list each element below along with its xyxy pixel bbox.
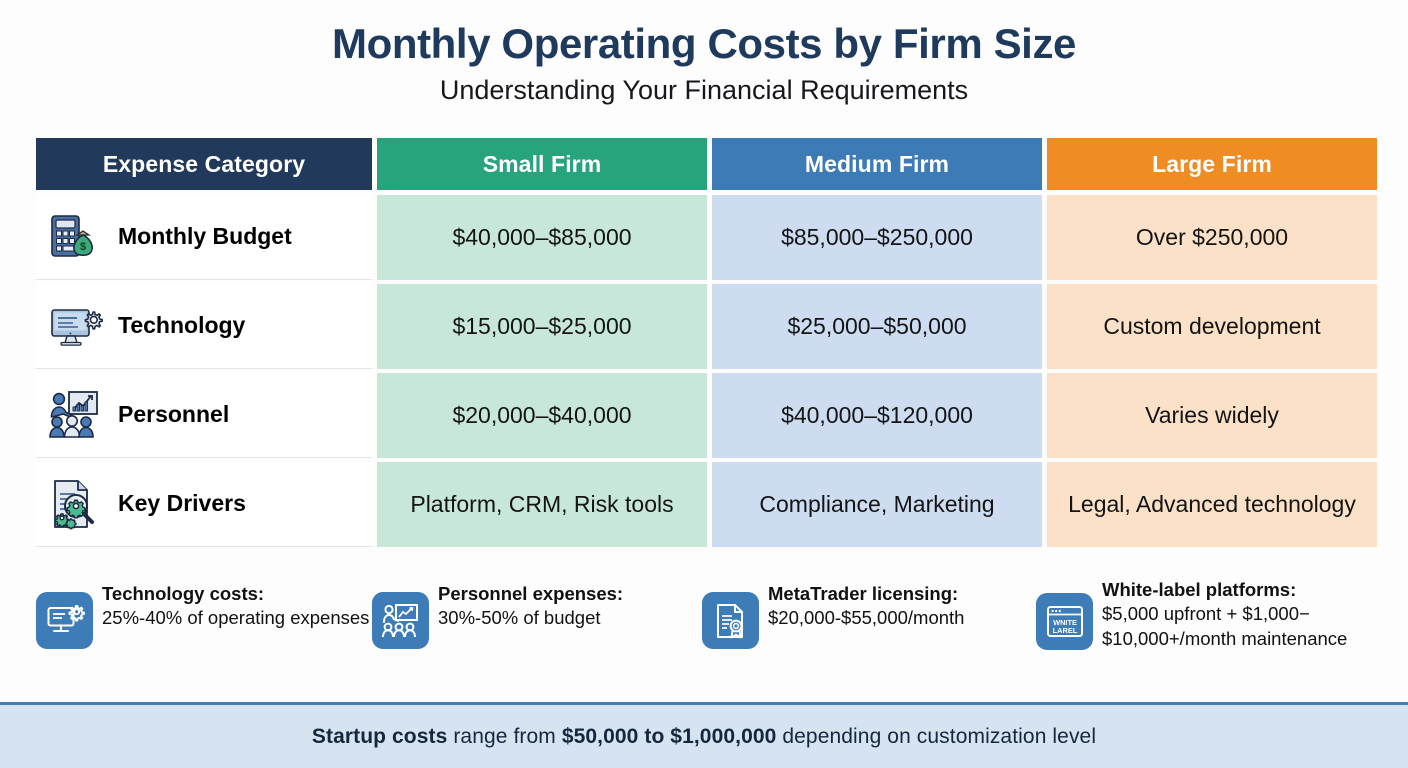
callout-title: Personnel expenses: — [438, 582, 623, 606]
column-header-small-firm: Small Firm — [377, 138, 707, 190]
certificate-document-icon — [702, 592, 759, 649]
callout-detail: $5,000 upfront + $1,000−$10,000+/month m… — [1102, 603, 1347, 648]
footer-amount: $50,000 to $1,000,000 — [562, 725, 777, 748]
callout-detail: 30%‑50% of budget — [438, 607, 601, 628]
row-category-cell: Personnel — [36, 373, 372, 458]
cell-large-firm: Legal, Advanced technology — [1047, 462, 1377, 547]
footer-banner: Startup costs range from $50,000 to $1,0… — [0, 702, 1408, 768]
callout-text: Technology costs: 25%‑40% of operating e… — [102, 578, 369, 631]
footer-prefix: Startup costs — [312, 725, 448, 748]
callout-title: MetaTrader licensing: — [768, 582, 964, 606]
presentation-people-icon — [44, 384, 106, 446]
callout-title: Technology costs: — [102, 582, 369, 606]
table-row: Key Drivers Platform, CRM, Risk tools Co… — [36, 462, 1368, 547]
cell-small-firm: Platform, CRM, Risk tools — [377, 462, 707, 547]
cell-medium-firm: Compliance, Marketing — [712, 462, 1042, 547]
cell-medium-firm: $40,000–$120,000 — [712, 373, 1042, 458]
row-category-cell: $ Monthly Budget — [36, 195, 372, 280]
monitor-gear-icon — [36, 592, 93, 649]
footer-text: Startup costs range from $50,000 to $1,0… — [312, 725, 1096, 749]
callout-text: White-label platforms: $5,000 upfront + … — [1102, 578, 1376, 651]
row-category-label: Technology — [118, 313, 245, 338]
calculator-money-bag-icon: $ — [44, 206, 106, 268]
callout-detail: 25%‑40% of operating expenses — [102, 607, 369, 628]
document-magnifier-gears-icon — [44, 473, 106, 535]
cell-small-firm: $40,000–$85,000 — [377, 195, 707, 280]
page-title: Monthly Operating Costs by Firm Size — [0, 20, 1408, 67]
row-category-label: Personnel — [118, 402, 229, 427]
cell-large-firm: Custom development — [1047, 284, 1377, 369]
cost-comparison-table: Expense Category Small Firm Medium Firm … — [36, 138, 1368, 551]
cell-large-firm: Over $250,000 — [1047, 195, 1377, 280]
callout-title: White-label platforms: — [1102, 578, 1376, 602]
table-header-row: Expense Category Small Firm Medium Firm … — [36, 138, 1368, 190]
footer-suffix: depending on customization level — [776, 725, 1096, 748]
table-row: Personnel $20,000–$40,000 $40,000–$120,0… — [36, 373, 1368, 458]
column-header-medium-firm: Medium Firm — [712, 138, 1042, 190]
row-category-cell: Technology — [36, 284, 372, 369]
callout-white-label-platforms: WNITE LAREL White-label platforms: $5,00… — [1036, 578, 1376, 651]
callout-text: Personnel expenses: 30%‑50% of budget — [438, 578, 623, 631]
row-category-label: Monthly Budget — [118, 224, 292, 249]
presentation-people-icon — [372, 592, 429, 649]
callout-technology-costs: Technology costs: 25%‑40% of operating e… — [36, 578, 372, 651]
cell-small-firm: $20,000–$40,000 — [377, 373, 707, 458]
column-header-expense-category: Expense Category — [36, 138, 372, 190]
page-subtitle: Understanding Your Financial Requirement… — [0, 75, 1408, 106]
browser-window-white-label-icon: WNITE LAREL — [1036, 593, 1093, 650]
row-category-cell: Key Drivers — [36, 462, 372, 547]
callout-personnel-expenses: Personnel expenses: 30%‑50% of budget — [372, 578, 702, 651]
callout-metatrader-licensing: MetaTrader licensing: $20,000-$55,000/mo… — [702, 578, 1036, 651]
table-row: $ Monthly Budget $40,000–$85,000 $85,000… — [36, 195, 1368, 280]
callout-strip: Technology costs: 25%‑40% of operating e… — [36, 578, 1376, 651]
cell-medium-firm: $25,000–$50,000 — [712, 284, 1042, 369]
column-header-large-firm: Large Firm — [1047, 138, 1377, 190]
svg-text:$: $ — [80, 241, 86, 253]
monitor-gear-icon — [44, 295, 106, 357]
cell-large-firm: Varies widely — [1047, 373, 1377, 458]
header-block: Monthly Operating Costs by Firm Size Und… — [0, 0, 1408, 106]
table-row: Technology $15,000–$25,000 $25,000–$50,0… — [36, 284, 1368, 369]
callout-detail: $20,000-$55,000/month — [768, 607, 964, 628]
row-category-label: Key Drivers — [118, 491, 246, 516]
callout-text: MetaTrader licensing: $20,000-$55,000/mo… — [768, 578, 964, 631]
icon-label-line2: LAREL — [1052, 626, 1077, 635]
cell-small-firm: $15,000–$25,000 — [377, 284, 707, 369]
footer-mid: range from — [447, 725, 561, 748]
cell-medium-firm: $85,000–$250,000 — [712, 195, 1042, 280]
